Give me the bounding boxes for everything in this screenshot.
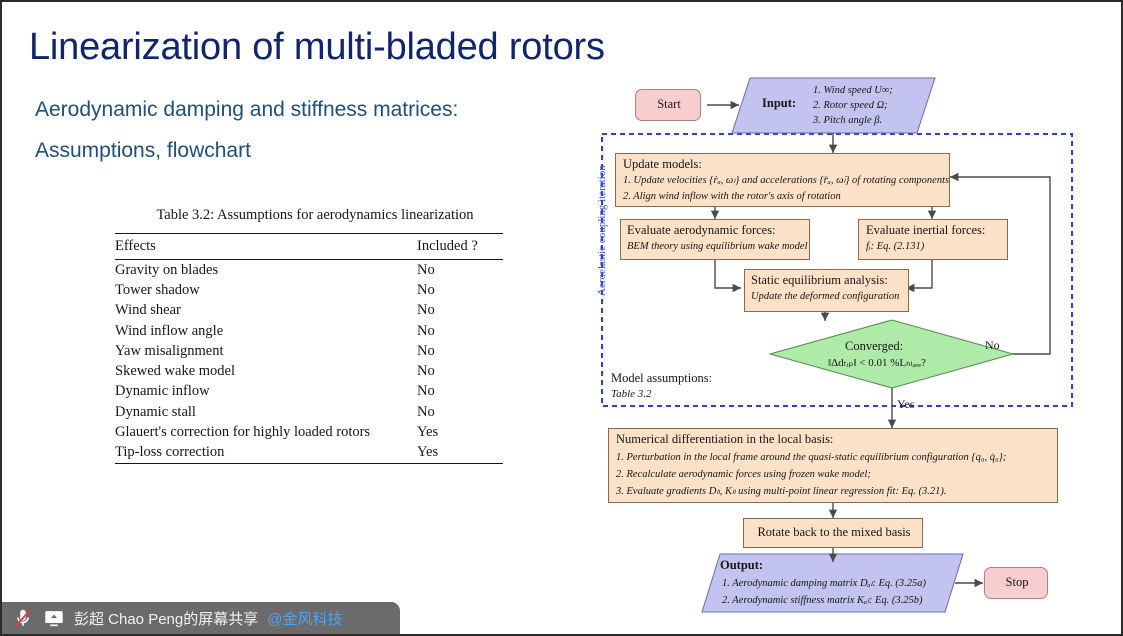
flow-list-item: 2. Align wind inflow with the rotor's ax…	[623, 189, 949, 205]
update-models-items: 1. Update velocities {ṙₐ, ωₗ} and accele…	[623, 173, 949, 205]
static-equilibrium-sub: Update the deformed configuration	[751, 291, 899, 302]
screen-share-bar[interactable]: 彭超 Chao Peng的屏幕共享 @金风科技	[2, 602, 400, 634]
table-cell-included: No	[411, 402, 503, 422]
table-cell-included: No	[411, 280, 503, 300]
table-cell-effect: Tower shadow	[115, 280, 411, 300]
inertial-forces-sub: fᵢ: Eq. (2.131)	[866, 241, 924, 252]
table-cell-effect: Yaw misalignment	[115, 341, 411, 361]
table-cell-included: No	[411, 321, 503, 341]
update-models-title: Update models:	[623, 157, 702, 172]
table-cell-included: No	[411, 362, 503, 382]
slide-subtitle-1: Aerodynamic damping and stiffness matric…	[35, 98, 458, 122]
table-cell-effect: Tip-loss correction	[115, 443, 411, 464]
branch-no-label: No	[985, 338, 1000, 353]
model-assumptions-line1: Model assumptions:	[611, 371, 712, 386]
flow-list-item: 1. Perturbation in the local frame aroun…	[616, 449, 1006, 466]
table-row: Wind inflow angleNo	[115, 321, 503, 341]
flow-list-item: 3. Evaluate gradients Dₗₗ, Kₗₗ using mul…	[616, 483, 1006, 500]
page-title: Linearization of multi-bladed rotors	[29, 26, 605, 69]
table-row: Gravity on bladesNo	[115, 260, 503, 281]
input-items: 1. Wind speed U∞;2. Rotor speed Ω;3. Pit…	[813, 83, 893, 128]
numerical-differentiation-title: Numerical differentiation in the local b…	[616, 432, 833, 447]
table-body: Gravity on bladesNoTower shadowNoWind sh…	[115, 260, 503, 466]
table-row: Dynamic inflowNo	[115, 382, 503, 402]
flow-list-item: 1. Aerodynamic damping matrix Dₐₗ: Eq. (…	[722, 575, 926, 592]
start-label: Start	[636, 97, 702, 112]
table-bottom-rule	[115, 464, 503, 467]
table-cell-effect: Dynamic stall	[115, 402, 411, 422]
mic-muted-icon[interactable]	[12, 607, 34, 629]
flow-list-item: 3. Pitch angle β.	[813, 113, 893, 128]
rotate-back-node[interactable]: Rotate back to the mixed basis	[743, 518, 923, 548]
table-cell-effect: Dynamic inflow	[115, 382, 411, 402]
rotate-back-label: Rotate back to the mixed basis	[744, 525, 924, 540]
aero-forces-sub: BEM theory using equilibrium wake model	[627, 241, 808, 252]
start-node[interactable]: Start	[635, 89, 701, 121]
decision-shape	[770, 320, 1013, 388]
stop-label: Stop	[985, 575, 1049, 590]
decision-title: Converged:	[845, 339, 903, 354]
output-items: 1. Aerodynamic damping matrix Dₐₗ: Eq. (…	[722, 575, 926, 609]
table-caption: Table 3.2: Assumptions for aerodynamics …	[115, 207, 515, 224]
table-row: Wind shearNo	[115, 301, 503, 321]
aeroelastic-loop-label: Aeroelastic coupling iteration	[596, 165, 608, 296]
table-cell-included: Yes	[411, 443, 503, 464]
flow-list-item: 1. Update velocities {ṙₐ, ωₗ} and accele…	[623, 173, 949, 189]
table-header-effects: Effects	[115, 234, 411, 260]
table-row: Glauert's correction for highly loaded r…	[115, 422, 503, 442]
assumptions-table-block: Table 3.2: Assumptions for aerodynamics …	[115, 207, 515, 466]
share-handle: @金风科技	[267, 608, 342, 629]
table-row: Yaw misalignmentNo	[115, 341, 503, 361]
screen-share-icon[interactable]	[43, 607, 65, 629]
table-row: Tip-loss correctionYes	[115, 443, 503, 464]
flow-list-item: 2. Rotor speed Ω;	[813, 98, 893, 113]
table-cell-effect: Glauert's correction for highly loaded r…	[115, 422, 411, 442]
table-cell-included: No	[411, 382, 503, 402]
table-cell-effect: Wind inflow angle	[115, 321, 411, 341]
aero-forces-title: Evaluate aerodynamic forces:	[627, 223, 776, 238]
flow-list-item: 2. Recalculate aerodynamic forces using …	[616, 466, 1006, 483]
table-cell-included: No	[411, 260, 503, 281]
table-cell-effect: Wind shear	[115, 301, 411, 321]
flowchart: Aeroelastic coupling iteration Start Inp…	[580, 70, 1120, 630]
decision-condition: ‖Δdₜᵢₚ‖ < 0.01 %Lₕₗₐₑₑ?	[828, 356, 926, 369]
static-equilibrium-title: Static equilibrium analysis:	[751, 273, 888, 288]
table-cell-included: No	[411, 301, 503, 321]
output-title: Output:	[720, 558, 763, 573]
branch-yes-label: Yes	[897, 397, 914, 412]
input-title: Input:	[762, 96, 796, 111]
table-row: Dynamic stallNo	[115, 402, 503, 422]
table-cell-effect: Gravity on blades	[115, 260, 411, 281]
model-assumptions-line2: Table 3.2	[611, 388, 652, 400]
table-row: Skewed wake modelNo	[115, 362, 503, 382]
slide-screen: Linearization of multi-bladed rotors Aer…	[0, 0, 1123, 636]
table-header-row: Effects Included ?	[115, 234, 503, 260]
flow-list-item: 2. Aerodynamic stiffness matrix Kₐₗ: Eq.…	[722, 592, 926, 609]
assumptions-table: Effects Included ? Gravity on bladesNoTo…	[115, 233, 503, 466]
inertial-forces-title: Evaluate inertial forces:	[866, 223, 985, 238]
share-title: 彭超 Chao Peng的屏幕共享	[74, 608, 258, 629]
table-cell-included: Yes	[411, 422, 503, 442]
stop-node[interactable]: Stop	[984, 567, 1048, 599]
numerical-differentiation-items: 1. Perturbation in the local frame aroun…	[616, 449, 1006, 500]
table-cell-included: No	[411, 341, 503, 361]
slide-subtitle-2: Assumptions, flowchart	[35, 139, 251, 163]
table-header-included: Included ?	[411, 234, 503, 260]
table-row: Tower shadowNo	[115, 280, 503, 300]
flow-list-item: 1. Wind speed U∞;	[813, 83, 893, 98]
table-cell-effect: Skewed wake model	[115, 362, 411, 382]
